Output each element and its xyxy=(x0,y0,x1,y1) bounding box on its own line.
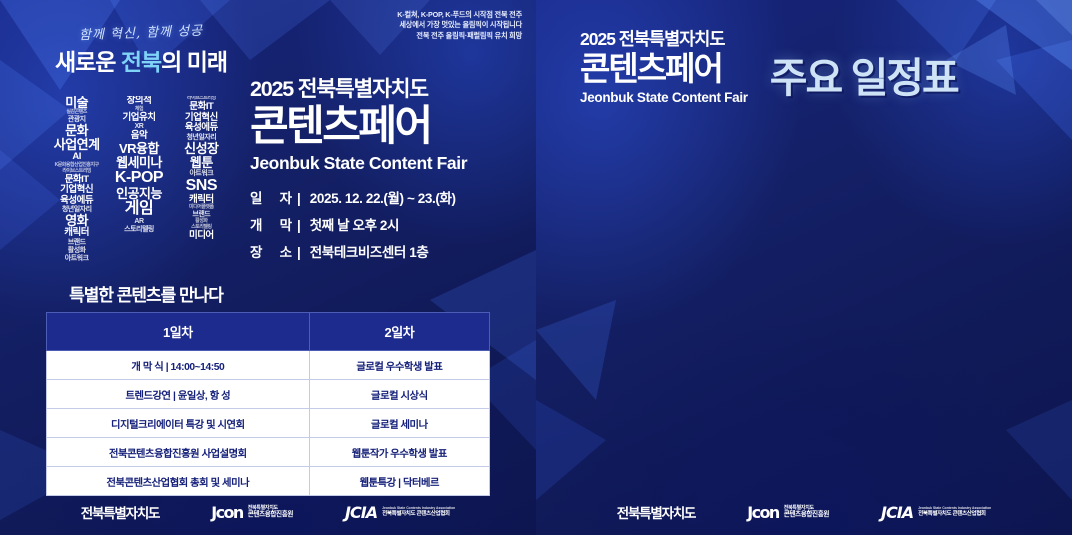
wordcloud-term: 미술 xyxy=(65,96,88,109)
left-poster-panel: K-컬쳐, K-POP, K-푸드의 시작점 전북 전주 세상에서 가장 멋있는… xyxy=(0,0,536,535)
wordcloud-term: 아트워크 xyxy=(65,255,89,262)
logo-jcia: JCIA Jeonbuk State Contents Industry Ass… xyxy=(345,503,455,522)
schedule-heading: 주요 일정표 xyxy=(770,44,958,104)
logo-jcia: JCIA Jeonbuk State Contents Industry Ass… xyxy=(881,503,991,522)
wordcloud-term: VR융합 xyxy=(119,142,159,155)
wordcloud-term: 캐릭터 xyxy=(189,195,214,205)
cell-day1-program: 트렌드강연 | 윤일상, 항 성 xyxy=(47,380,310,409)
cell-day2-program: 글로컬 우수학생 발표 xyxy=(309,351,489,380)
wordcloud-term: 음악 xyxy=(131,131,147,141)
slogan-part-b: 의 미래 xyxy=(161,49,227,75)
table-row: 트렌드강연 | 윤일상, 항 성 글로컬 시상식 xyxy=(47,380,490,409)
wordcloud-term: AR xyxy=(134,218,143,225)
info-row-venue: 장소 | 전북테크비즈센터 1층 xyxy=(250,241,520,261)
cell-day2-program: 웹툰작가 우수학생 발표 xyxy=(309,438,489,467)
left-title-block: 2025 전북특별자치도 콘텐츠페어 Jeonbuk State Content… xyxy=(250,72,520,268)
wordcloud-term: 문화IT xyxy=(65,175,89,185)
jcia-mark-icon: JCIA xyxy=(345,503,377,522)
jcon-logo-line-2: 콘텐츠융합진흥원 xyxy=(248,511,293,519)
wordcloud-term: 체험 xyxy=(135,107,143,112)
wordcloud-column-2: 창의적 체험 기업유치 XR 음악 VR융합 웹세미나 K-POP 인공지능 게… xyxy=(108,96,169,278)
wordcloud-term: 사업연계 xyxy=(54,138,100,151)
olympic-note-line-2: 세상에서 가장 멋있는 올림픽이 시작됩니다 xyxy=(397,20,522,30)
olympic-note: K-컬쳐, K-POP, K-푸드의 시작점 전북 전주 세상에서 가장 멋있는… xyxy=(397,10,522,41)
event-title-english: Jeonbuk State Content Fair xyxy=(250,153,520,174)
jcia-mark-icon: JCIA xyxy=(881,503,913,522)
wordcloud-term: 미디어 xyxy=(189,231,214,241)
cell-day2-program: 글로컬 세미나 xyxy=(309,409,489,438)
wordcloud-term: 브랜드 xyxy=(68,239,86,246)
olympic-note-line-1: K-컬쳐, K-POP, K-푸드의 시작점 전북 전주 xyxy=(397,10,522,20)
wordcloud-term: K문화융합산업진흥지구 xyxy=(55,163,99,168)
info-value-venue: 전북테크비즈센터 1층 xyxy=(310,241,429,261)
table-row: 개 막 식 | 14:00~14:50 글로컬 우수학생 발표 xyxy=(47,351,490,380)
slogan-handwritten: 함께 혁신, 함께 성공 xyxy=(26,18,257,46)
wordcloud-term: 아트워크 xyxy=(189,170,213,177)
jcon-logo-text: 전북특별자치도 콘텐츠융합진흥원 xyxy=(248,505,293,519)
wordcloud-term: 문화 xyxy=(65,124,88,137)
wordcloud-term: 기업혁신 xyxy=(185,113,218,123)
logo-jeonbuk-state: 전북특별자치도 xyxy=(617,502,696,522)
logo-jcon: Jcon 전북특별자치도 콘텐츠융합진흥원 xyxy=(747,503,829,522)
jcia-logo-line-1: Jeonbuk State Contents Industry Associat… xyxy=(918,506,991,510)
left-footer-logos: 전북특별자치도 Jcon 전북특별자치도 콘텐츠융합진흥원 JCIA Jeonb… xyxy=(0,489,536,535)
jcia-logo-line-1: Jeonbuk State Contents Industry Associat… xyxy=(382,506,455,510)
right-event-title-english: Jeonbuk State Content Fair xyxy=(580,90,748,105)
wordcloud-column-3: 라이브스트리밍 문화IT 기업혁신 육성에듀 청년일자리 신성장 웹툰 아트워크… xyxy=(171,96,232,278)
slogan-block: 함께 혁신, 함께 성공 새로운 전북의 미래 xyxy=(26,22,256,77)
right-schedule-panel: 2025 전북특별자치도 콘텐츠페어 Jeonbuk State Content… xyxy=(536,0,1072,535)
table-row: 디지털크리에이터 특강 및 시연회 글로컬 세미나 xyxy=(47,409,490,438)
info-label-venue: 장소 xyxy=(250,241,292,261)
event-info-list: 일자 | 2025. 12. 22.(월) ~ 23.(화) 개막 | 첫째 날… xyxy=(250,187,520,261)
info-row-date: 일자 | 2025. 12. 22.(월) ~ 23.(화) xyxy=(250,187,520,207)
wordcloud-term: 관광지 xyxy=(68,116,86,123)
right-header: 2025 전북특별자치도 콘텐츠페어 Jeonbuk State Content… xyxy=(536,22,1072,105)
logo-jeonbuk-text: 전북특별자치도 xyxy=(617,502,696,522)
event-year-line: 2025 전북특별자치도 xyxy=(250,72,520,103)
wordcloud-term: 라이브스트리밍 xyxy=(187,96,216,101)
info-divider: | xyxy=(297,245,301,260)
wordcloud-term: 게임 xyxy=(125,201,153,217)
wordcloud-term: 활성화 xyxy=(68,247,86,254)
keyword-wordcloud: 미술 실감콘텐츠 관광지 문화 사업연계 AI K문화융합산업진흥지구 라이브스… xyxy=(46,96,232,278)
wordcloud-term: 기업혁신 xyxy=(60,185,93,195)
wordcloud-term: 인공지능 xyxy=(116,187,162,200)
slogan-headline: 새로운 전북의 미래 xyxy=(26,43,256,77)
wordcloud-term: 브랜드 xyxy=(192,211,210,218)
poster-root: K-컬쳐, K-POP, K-푸드의 시작점 전북 전주 세상에서 가장 멋있는… xyxy=(0,0,1072,535)
wordcloud-term: K-POP xyxy=(115,170,163,186)
wordcloud-term: 웹툰 xyxy=(190,156,213,169)
wordcloud-term: 영화 xyxy=(65,214,88,227)
logo-jeonbuk-text: 전북특별자치도 xyxy=(81,502,160,522)
info-value-opening: 첫째 날 오후 2시 xyxy=(310,214,399,234)
wordcloud-term: 미디어플랫폼 xyxy=(189,205,214,210)
logo-jcon: Jcon 전북특별자치도 콘텐츠융합진흥원 xyxy=(211,503,293,522)
wordcloud-term: 문화IT xyxy=(189,102,213,112)
info-value-date: 2025. 12. 22.(월) ~ 23.(화) xyxy=(310,187,456,207)
wordcloud-term: 기업유치 xyxy=(123,113,156,123)
wordcloud-column-1: 미술 실감콘텐츠 관광지 문화 사업연계 AI K문화융합산업진흥지구 라이브스… xyxy=(46,96,107,278)
jcon-mark-icon: Jcon xyxy=(747,503,778,522)
wordcloud-term: 육성에듀 xyxy=(185,123,218,133)
right-footer-logos: 전북특별자치도 Jcon 전북특별자치도 콘텐츠융합진흥원 JCIA Jeonb… xyxy=(536,489,1072,535)
jcia-logo-text: Jeonbuk State Contents Industry Associat… xyxy=(382,506,455,517)
logo-jeonbuk-state: 전북특별자치도 xyxy=(81,502,160,522)
info-divider: | xyxy=(297,191,301,206)
jcon-mark-icon: Jcon xyxy=(211,503,242,522)
table-row: 전북콘텐츠융합진흥원 사업설명회 웹툰작가 우수학생 발표 xyxy=(47,438,490,467)
wordcloud-term: 청년일자리 xyxy=(186,134,216,141)
info-row-opening: 개막 | 첫째 날 오후 2시 xyxy=(250,214,520,234)
wordcloud-term: 실감콘텐츠 xyxy=(66,110,87,115)
jcia-logo-line-2: 전북특별자치도 콘텐츠산업협회 xyxy=(918,511,991,518)
wordcloud-term: 스토리텔링 xyxy=(191,225,212,230)
cell-day1-program: 개 막 식 | 14:00~14:50 xyxy=(47,351,310,380)
right-event-year: 2025 전북특별자치도 xyxy=(580,26,748,51)
column-header-day1: 1일차 xyxy=(47,313,310,351)
wordcloud-term: 창의적 xyxy=(127,96,152,106)
jcon-logo-line-2: 콘텐츠융합진흥원 xyxy=(784,511,829,519)
cell-day2-program: 글로컬 시상식 xyxy=(309,380,489,409)
wordcloud-term: 청년일자리 xyxy=(62,206,92,213)
wordcloud-term: 육성에듀 xyxy=(60,196,93,206)
jcon-logo-text: 전북특별자치도 콘텐츠융합진흥원 xyxy=(784,505,829,519)
column-header-day2: 2일차 xyxy=(309,313,489,351)
wordcloud-term: 신성장 xyxy=(184,142,218,155)
wordcloud-term: 스토리텔링 xyxy=(124,226,154,233)
wordcloud-term: XR xyxy=(135,123,144,130)
jcia-logo-text: Jeonbuk State Contents Industry Associat… xyxy=(918,506,991,517)
table-header-row: 1일차 2일차 xyxy=(47,313,490,351)
wordcloud-term: SNS xyxy=(186,178,217,194)
jcia-logo-line-2: 전북특별자치도 콘텐츠산업협회 xyxy=(382,511,455,518)
event-title-korean: 콘텐츠페어 xyxy=(250,105,520,148)
cell-day1-program: 디지털크리에이터 특강 및 시연회 xyxy=(47,409,310,438)
right-title-block: 2025 전북특별자치도 콘텐츠페어 Jeonbuk State Content… xyxy=(580,22,748,105)
info-label-date: 일자 xyxy=(250,187,292,207)
cell-day1-program: 전북콘텐츠융합진흥원 사업설명회 xyxy=(47,438,310,467)
right-event-title-korean: 콘텐츠페어 xyxy=(580,52,748,87)
wordcloud-term: 캐릭터 xyxy=(64,228,89,238)
olympic-note-line-3: 전북 전주 올림픽·패럴림픽 유치 희망 xyxy=(397,31,522,41)
wordcloud-term: 라이브스트리밍 xyxy=(62,169,91,174)
wordcloud-term: AI xyxy=(72,152,81,162)
wordcloud-term: 웹세미나 xyxy=(116,156,162,169)
info-divider: | xyxy=(297,218,301,233)
tagline-meet-content: 특별한 콘텐츠를 만나다 xyxy=(46,281,246,306)
slogan-part-a: 새로운 xyxy=(55,49,121,75)
info-label-opening: 개막 xyxy=(250,214,292,234)
left-summary-table: 1일차 2일차 개 막 식 | 14:00~14:50 글로컬 우수학생 발표 … xyxy=(46,312,490,496)
slogan-highlight: 전북 xyxy=(121,49,161,75)
